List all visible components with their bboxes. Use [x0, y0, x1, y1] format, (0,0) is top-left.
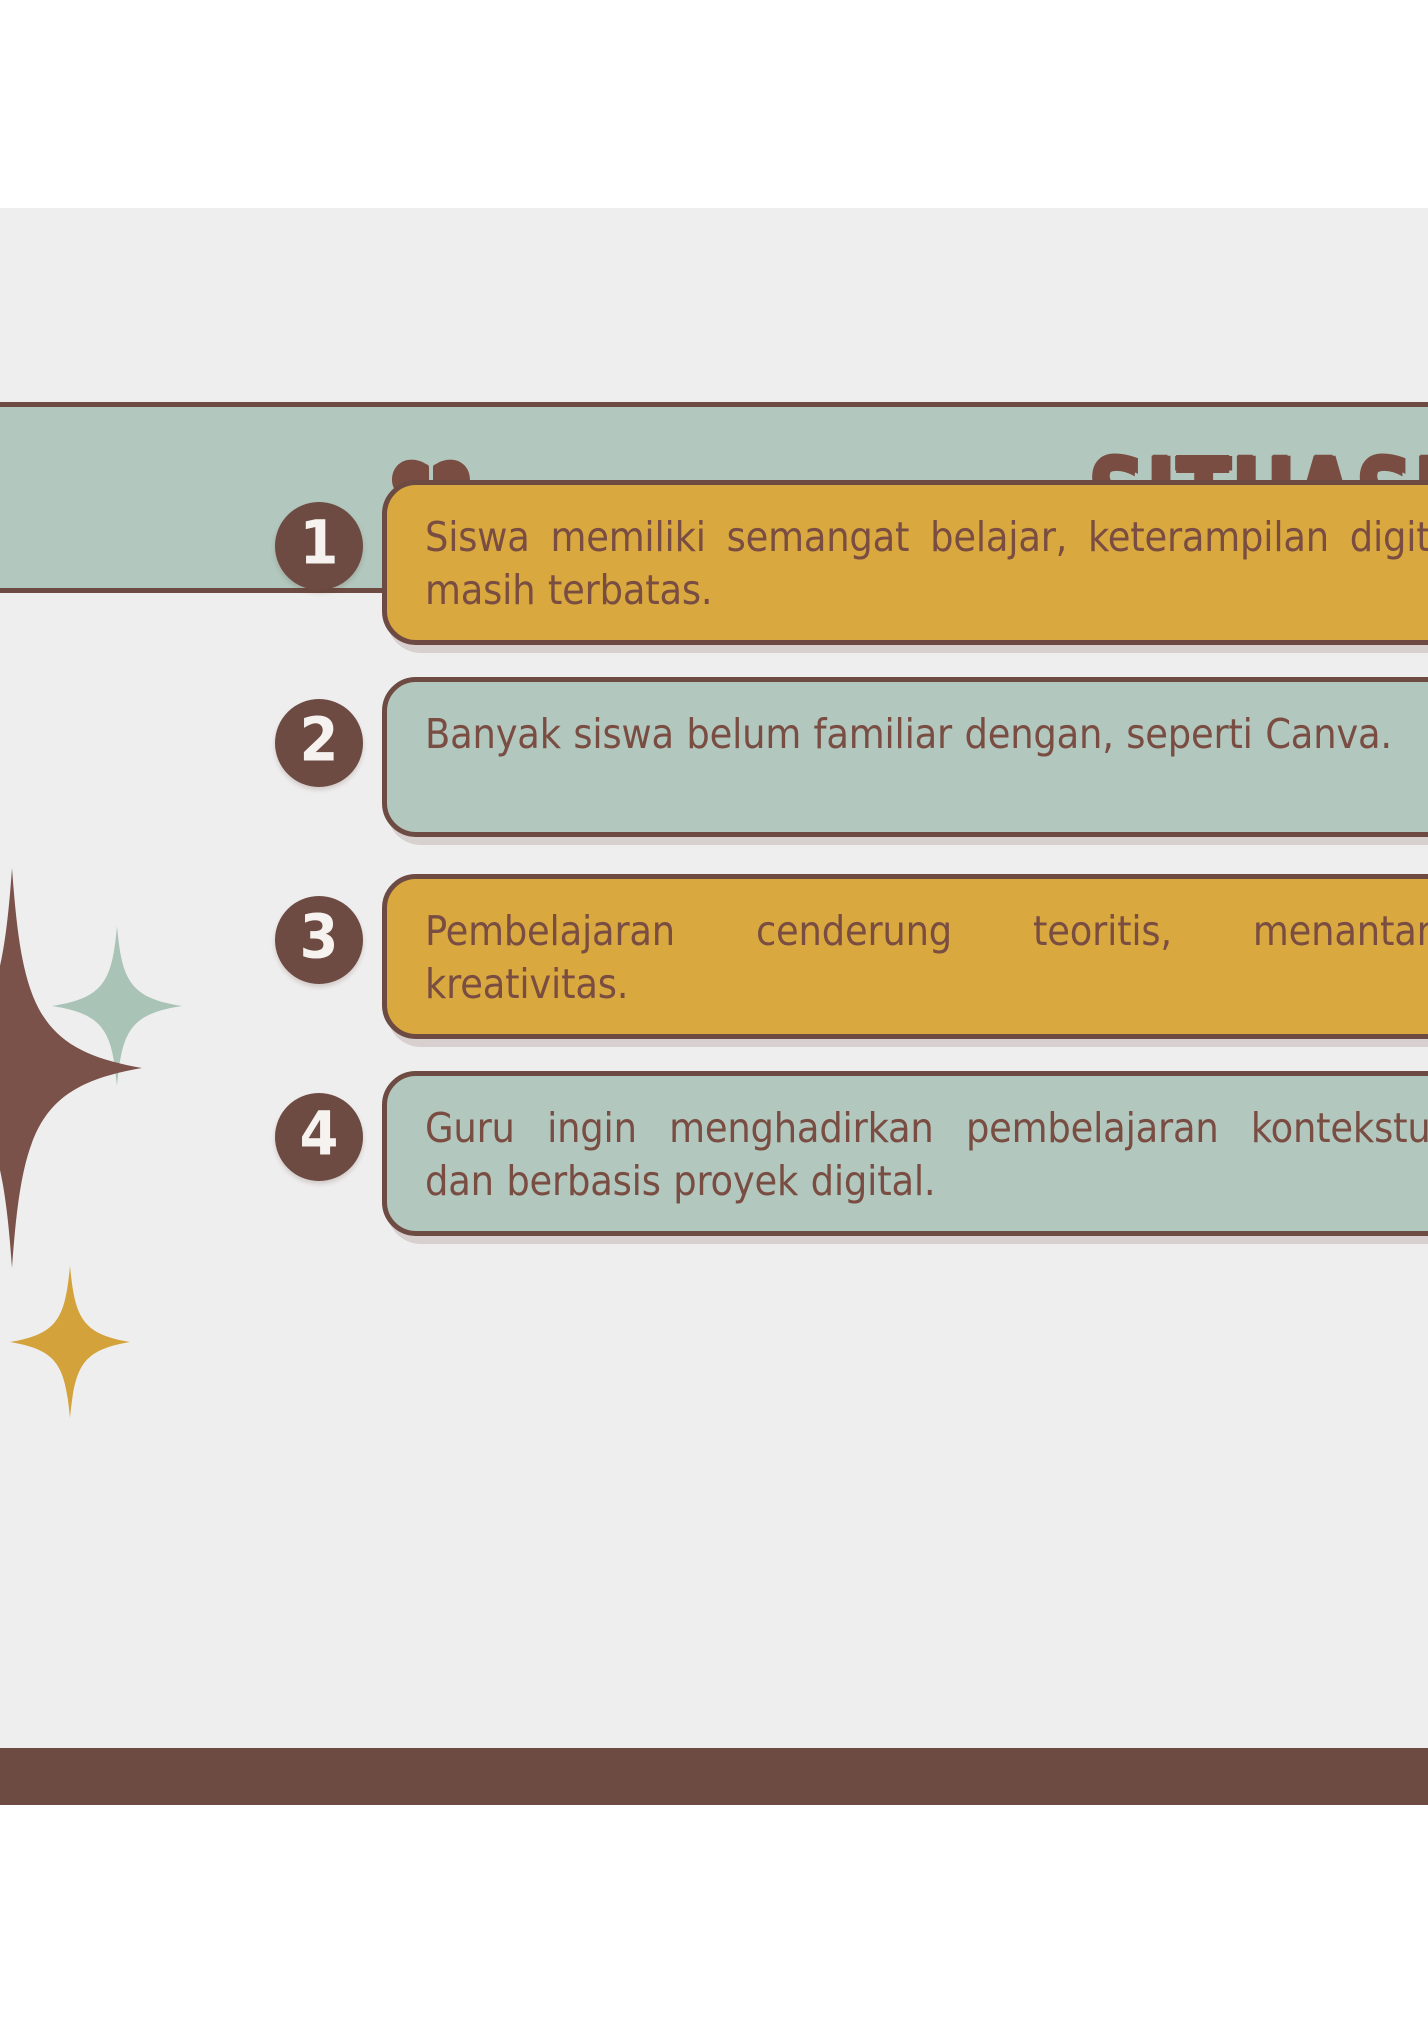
item-text: Banyak siswa belum familiar dengan, sepe…: [425, 708, 1428, 761]
item-number-badge: 2: [275, 699, 363, 787]
sparkle-gold-icon: [10, 1266, 130, 1418]
item-number-badge: 1: [275, 502, 363, 590]
footer-bar: [0, 1748, 1428, 1805]
list-item: 4 Guru ingin menghadirkan pembelajaran k…: [0, 1071, 1428, 1256]
item-card[interactable]: Banyak siswa belum familiar dengan, sepe…: [382, 677, 1428, 837]
item-number: 1: [300, 514, 339, 579]
item-card[interactable]: Siswa memiliki semangat belajar, keteram…: [382, 480, 1428, 645]
item-text: Guru ingin menghadirkan pembelajaran kon…: [425, 1102, 1428, 1209]
item-text: Siswa memiliki semangat belajar, keteram…: [425, 511, 1428, 618]
item-text: Pembelajaran cenderung teoritis, menanta…: [425, 905, 1428, 1012]
list-item: 1 Siswa memiliki semangat belajar, keter…: [0, 480, 1428, 665]
item-number-badge: 4: [275, 1093, 363, 1181]
list-item: 2 Banyak siswa belum familiar dengan, se…: [0, 677, 1428, 862]
slide-canvas: SITUASI 1 Siswa memiliki semangat belaja…: [0, 208, 1428, 1805]
list-item: 3 Pembelajaran cenderung teoritis, menan…: [0, 874, 1428, 1059]
item-number: 4: [300, 1105, 339, 1170]
item-card[interactable]: Pembelajaran cenderung teoritis, menanta…: [382, 874, 1428, 1039]
item-number: 2: [300, 711, 339, 776]
item-number-badge: 3: [275, 896, 363, 984]
item-card[interactable]: Guru ingin menghadirkan pembelajaran kon…: [382, 1071, 1428, 1236]
item-number: 3: [300, 908, 339, 973]
situation-list: 1 Siswa memiliki semangat belajar, keter…: [0, 480, 1428, 1268]
